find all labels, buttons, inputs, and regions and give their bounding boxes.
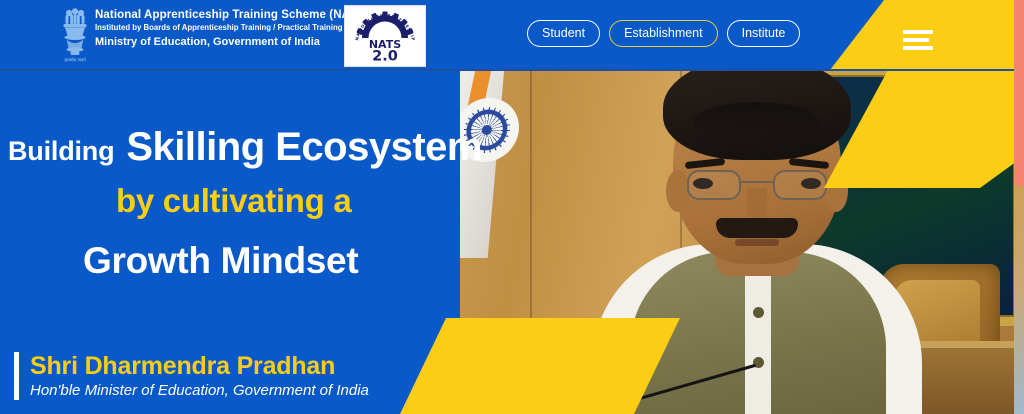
headline-line-3: Growth Mindset [83,240,358,282]
audience-nav: Student Establishment Institute [527,20,800,47]
attribution-role: Hon'ble Minister of Education, Governmen… [30,382,369,400]
hamburger-bar [903,38,929,42]
nats-gear-logo-icon[interactable]: NATS 2.0 NATIONAL APPRENTICESHIP TRAININ… [344,5,426,67]
nav-pill-establishment[interactable]: Establishment [609,20,718,47]
nav-pill-student[interactable]: Student [527,20,600,47]
headline-line-2: by cultivating a [116,182,351,220]
hero-banner-slide: शिक्षा [0,0,1024,414]
glasses-bridge [741,181,773,183]
headline-line-1: BuildingSkilling Ecosystem [8,125,482,170]
svg-text:2.0: 2.0 [372,49,398,65]
hero-section: शिक्षा [0,70,1024,414]
yellow-diagonal-accent [400,318,680,414]
org-name-line: National Apprenticeship Training Scheme … [95,8,345,22]
site-header: सत्यमेव जयते National Apprenticeship Tra… [0,0,1024,70]
organisation-title-block: National Apprenticeship Training Scheme … [95,8,345,50]
hamburger-menu-icon[interactable] [903,30,933,50]
hamburger-bar [903,30,933,34]
attribution-accent-bar [14,352,19,400]
headline-lead: Building [8,136,114,166]
header-divider [0,69,1024,71]
hair [663,70,851,160]
nav-pill-institute[interactable]: Institute [727,20,801,47]
eyebrow-left [685,158,726,169]
attribution-name: Shri Dharmendra Pradhan [30,352,335,380]
lens-left [687,170,741,200]
mustache [716,218,798,238]
vest-button [753,307,764,318]
eyebrow-right [789,158,830,169]
org-subtitle-line: Instituted by Boards of Apprenticeship T… [95,22,345,34]
next-slide-edge-strip[interactable] [1014,0,1024,186]
head [673,70,841,264]
vest-opening [745,264,771,414]
ashoka-emblem-icon: सत्यमेव जयते [58,6,92,64]
next-slide-edge-strip-lower[interactable] [1014,186,1024,414]
chakra-hub [481,125,492,135]
svg-text:सत्यमेव जयते: सत्यमेव जयते [64,58,86,64]
org-ministry-line: Ministry of Education, Government of Ind… [95,35,345,50]
mouth [735,239,779,246]
headline-emphasis: Skilling Ecosystem [126,125,482,169]
hamburger-bar [903,46,933,50]
lens-right [773,170,827,200]
nose [747,188,767,220]
